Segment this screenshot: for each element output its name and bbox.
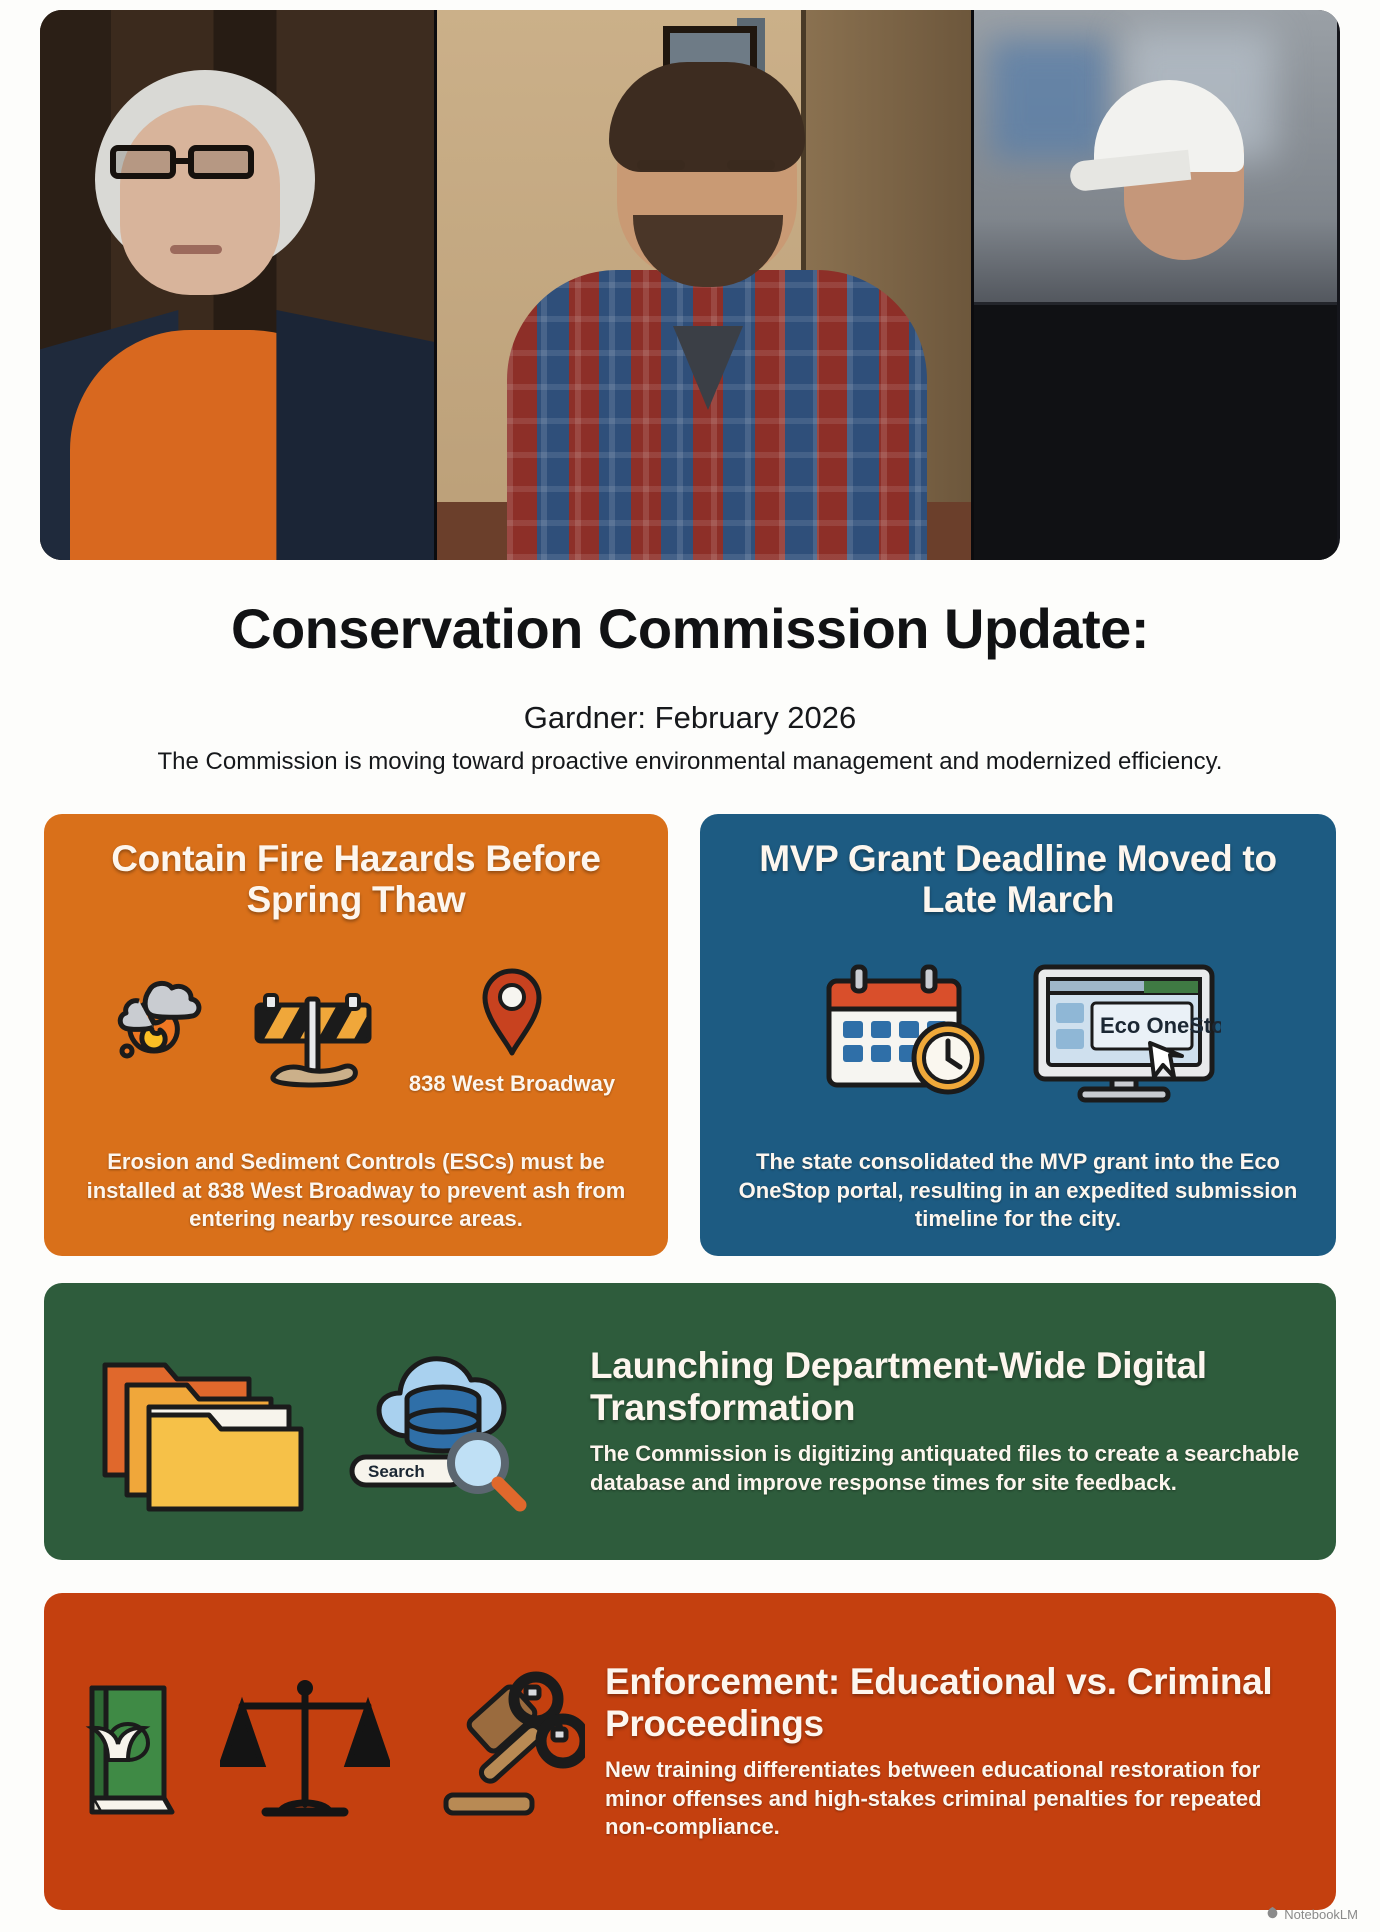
scales-of-justice-icon [220, 1672, 390, 1832]
background-blur-blue [990, 40, 1110, 160]
enforcement-card: Enforcement: Educational vs. Criminal Pr… [44, 1593, 1336, 1910]
fire-hazards-card-icons: 838 West Broadway [44, 956, 668, 1106]
portal-name-text: Eco OneStop [1100, 1013, 1221, 1038]
enforcement-card-title: Enforcement: Educational vs. Criminal Pr… [605, 1661, 1310, 1744]
monitor-portal-icon: Eco OneStop [1026, 959, 1221, 1104]
fire-hazards-location-label: 838 West Broadway [409, 1071, 615, 1096]
fire-hazards-card: Contain Fire Hazards Before Spring Thaw [44, 814, 668, 1256]
cloud-database-search-icon: Search [338, 1329, 548, 1514]
dark-monitor [974, 305, 1337, 560]
video-pane-capped-participant [974, 10, 1337, 560]
page-title: Conservation Commission Update: [0, 596, 1380, 661]
page-lede: The Commission is moving toward proactiv… [0, 748, 1380, 776]
enforcement-card-body: New training differentiates between educ… [605, 1756, 1310, 1842]
video-pane-man-speaker [434, 10, 974, 560]
notebooklm-logo-icon [1266, 1906, 1279, 1922]
digital-transformation-card: Search Launching Department-Wide Digital… [44, 1283, 1336, 1560]
video-pane-woman-speaker [40, 10, 434, 560]
fire-icon [97, 971, 217, 1091]
map-pin-icon: 838 West Broadway [409, 965, 615, 1096]
search-label-text: Search [368, 1462, 425, 1481]
hair [609, 62, 805, 172]
eyeglass-left [110, 145, 176, 179]
eyeglass-bridge [176, 158, 190, 164]
file-folders-icon [93, 1329, 308, 1514]
fire-hazards-card-title: Contain Fire Hazards Before Spring Thaw [44, 814, 668, 921]
page-subtitle: Gardner: February 2026 [0, 700, 1380, 736]
green-book-icon [70, 1672, 190, 1832]
notebooklm-watermark-label: NotebookLM [1284, 1907, 1358, 1922]
eyebrow-right [727, 160, 775, 170]
calendar-clock-icon [815, 961, 1000, 1101]
gavel-handcuffs-icon [420, 1669, 585, 1834]
face [120, 105, 280, 295]
plaid-shirt [507, 270, 927, 560]
mvp-grant-card-body: The state consolidated the MVP grant int… [722, 1148, 1314, 1234]
enforcement-card-icons [70, 1609, 585, 1894]
road-barrier-icon [243, 971, 383, 1091]
eyeglass-right [188, 145, 254, 179]
digital-transformation-card-title: Launching Department-Wide Digital Transf… [590, 1345, 1310, 1428]
digital-transformation-card-icons: Search [70, 1299, 570, 1544]
infographic-page: Conservation Commission Update: Gardner:… [0, 0, 1380, 1932]
digital-transformation-card-body: The Commission is digitizing antiquated … [590, 1440, 1310, 1497]
mouth [170, 245, 222, 254]
fire-hazards-card-body: Erosion and Sediment Controls (ESCs) mus… [66, 1148, 646, 1234]
mvp-grant-card-title: MVP Grant Deadline Moved to Late March [700, 814, 1336, 921]
notebooklm-watermark: NotebookLM [1266, 1906, 1358, 1922]
mvp-grant-card-icons: Eco OneStop [700, 956, 1336, 1106]
mvp-grant-card: MVP Grant Deadline Moved to Late March [700, 814, 1336, 1256]
eyebrow-left [637, 160, 685, 170]
video-strip [40, 10, 1340, 560]
